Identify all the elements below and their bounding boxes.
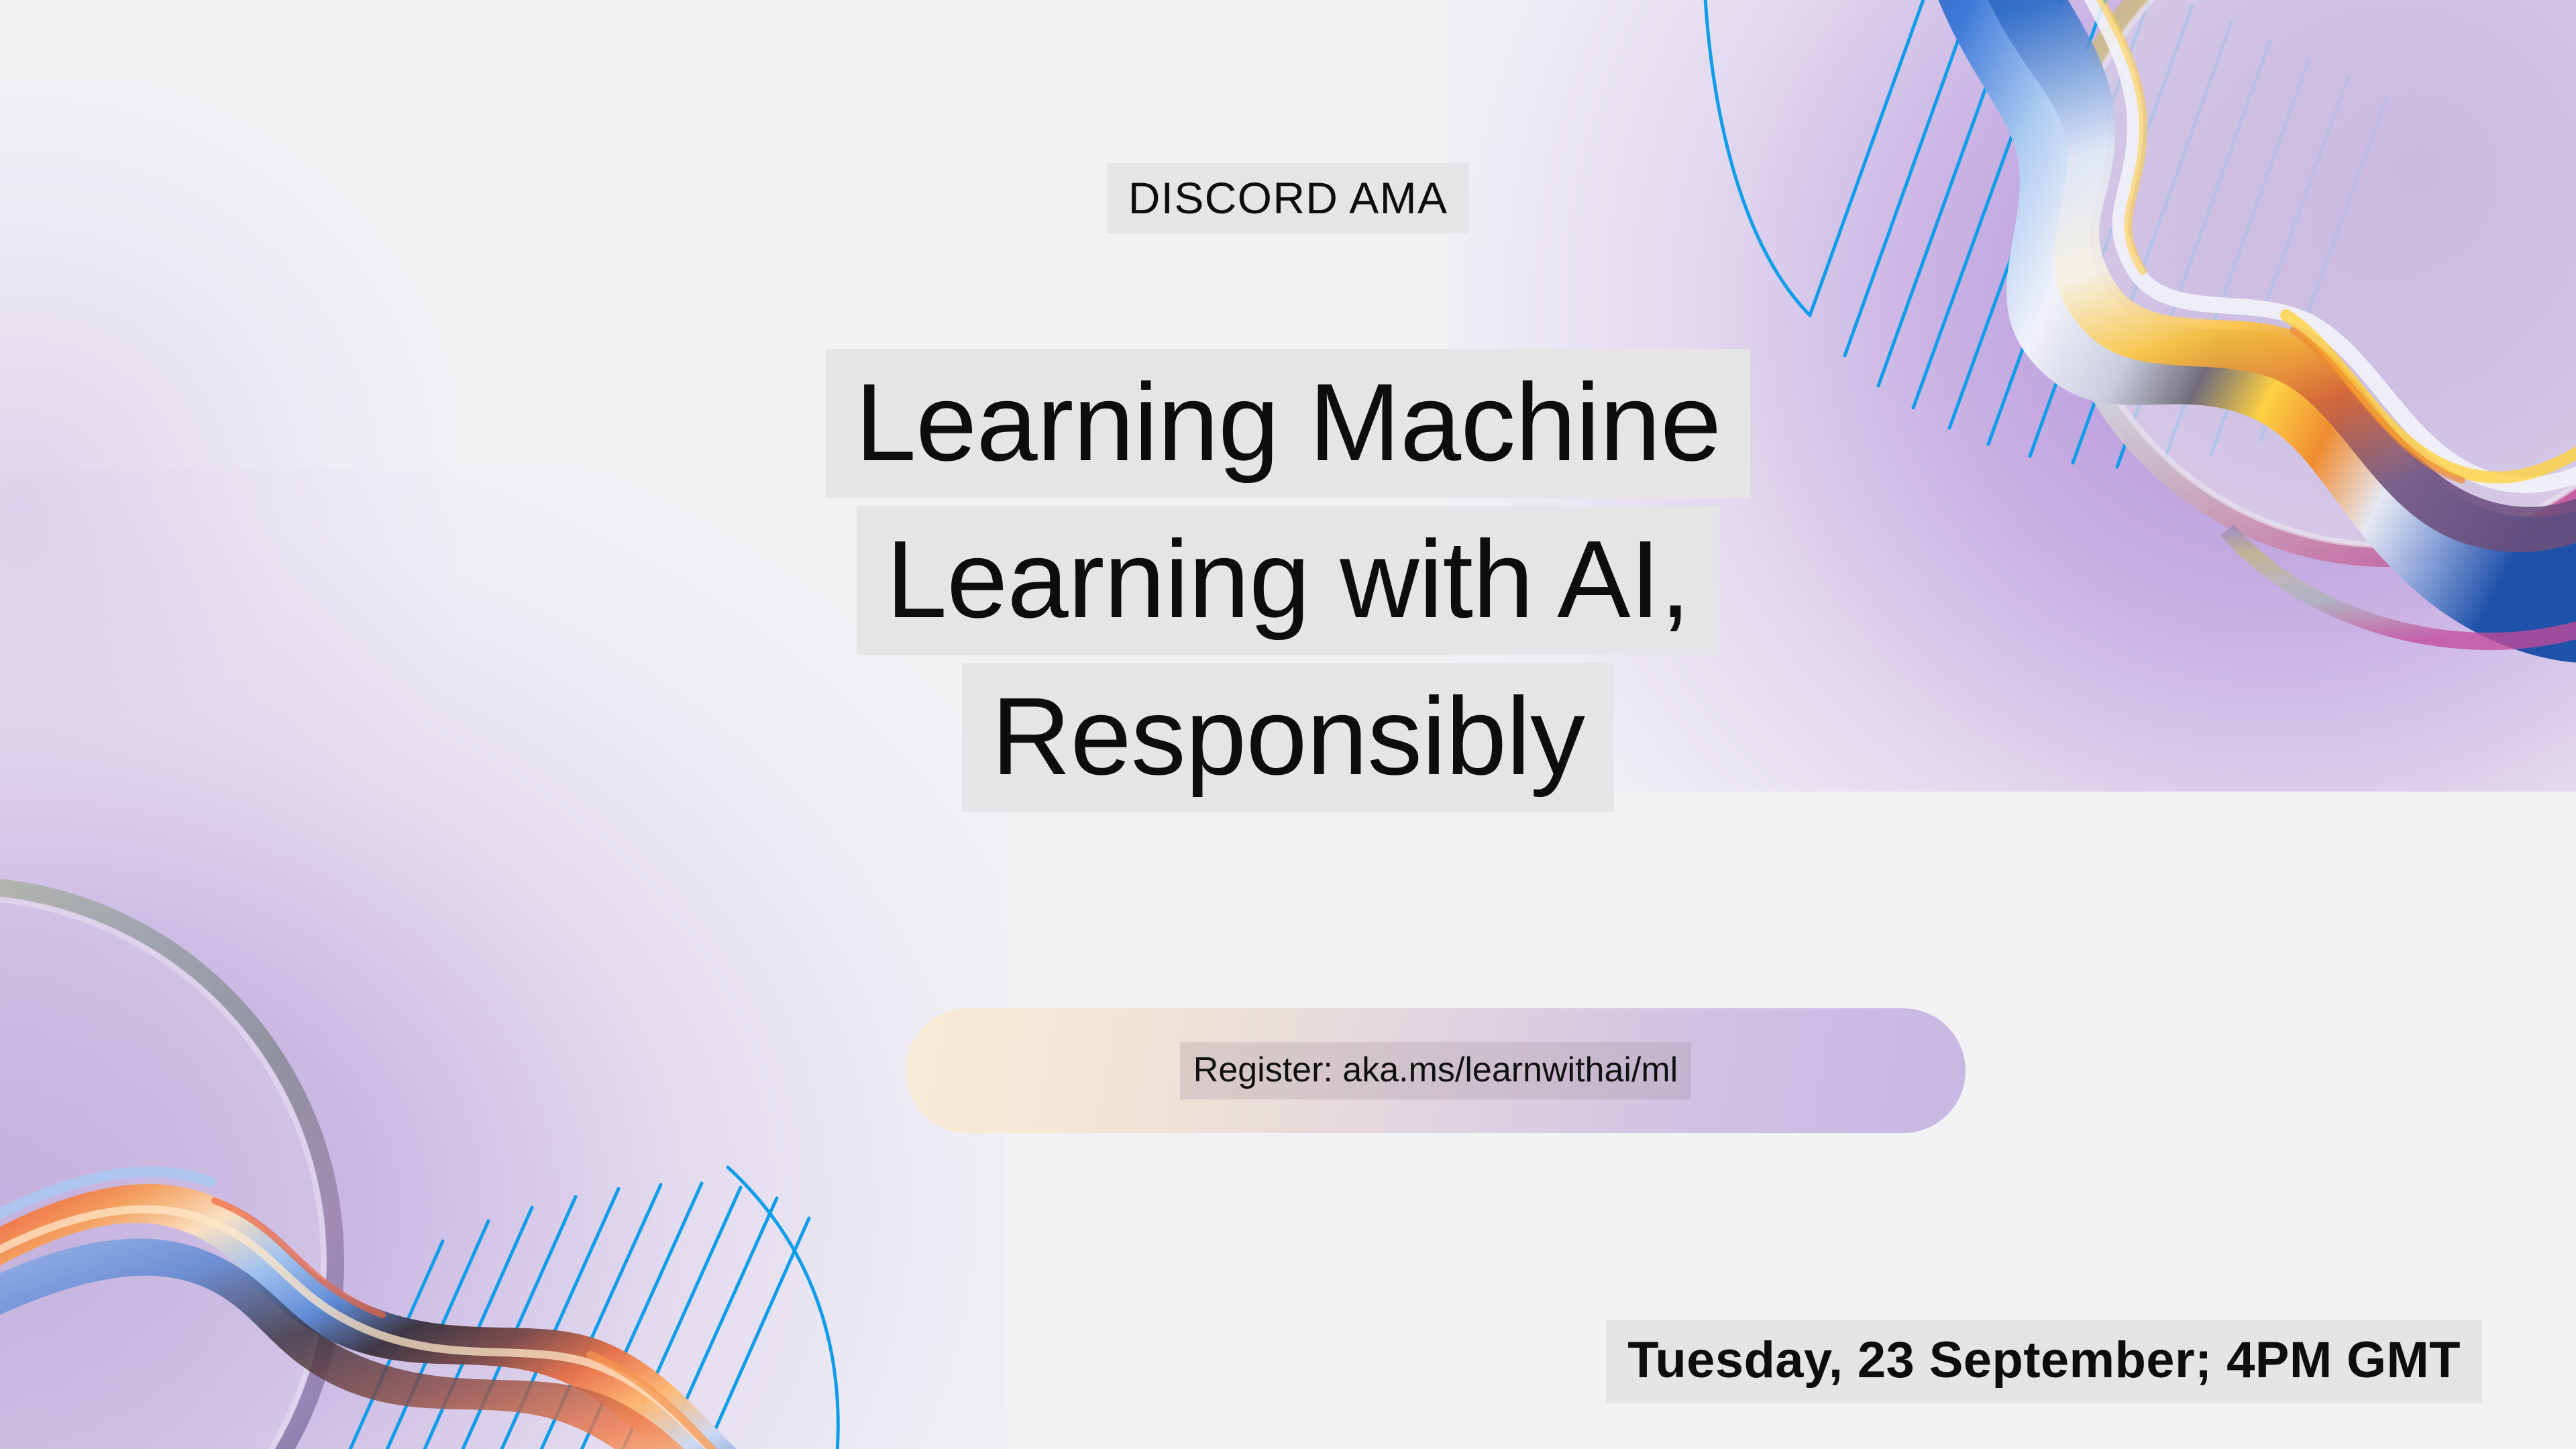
event-date-label: Tuesday, 23 September; 4PM GMT: [1606, 1320, 2482, 1403]
title-line-2: Learning with AI,: [857, 506, 1720, 655]
title-line-3-row: Responsibly: [0, 663, 2576, 812]
register-button-label[interactable]: Register: aka.ms/learnwithai/ml: [1180, 1042, 1691, 1099]
slide-canvas: DISCORD AMA Learning Machine Learning wi…: [0, 0, 2576, 1449]
title-line-1: Learning Machine: [826, 349, 1751, 498]
register-button[interactable]: Register: aka.ms/learnwithai/ml: [906, 1008, 1966, 1133]
title-line-3: Responsibly: [962, 663, 1614, 812]
title-line-2-row: Learning with AI,: [0, 506, 2576, 655]
register-button-text-row: Register: aka.ms/learnwithai/ml: [906, 1008, 1966, 1133]
page-title: Learning Machine Learning with AI, Respo…: [0, 349, 2576, 812]
event-date-container: Tuesday, 23 September; 4PM GMT: [0, 1320, 2576, 1403]
title-line-1-row: Learning Machine: [0, 349, 2576, 498]
eyebrow-label: DISCORD AMA: [1107, 163, 1470, 233]
eyebrow-container: DISCORD AMA: [0, 163, 2576, 233]
